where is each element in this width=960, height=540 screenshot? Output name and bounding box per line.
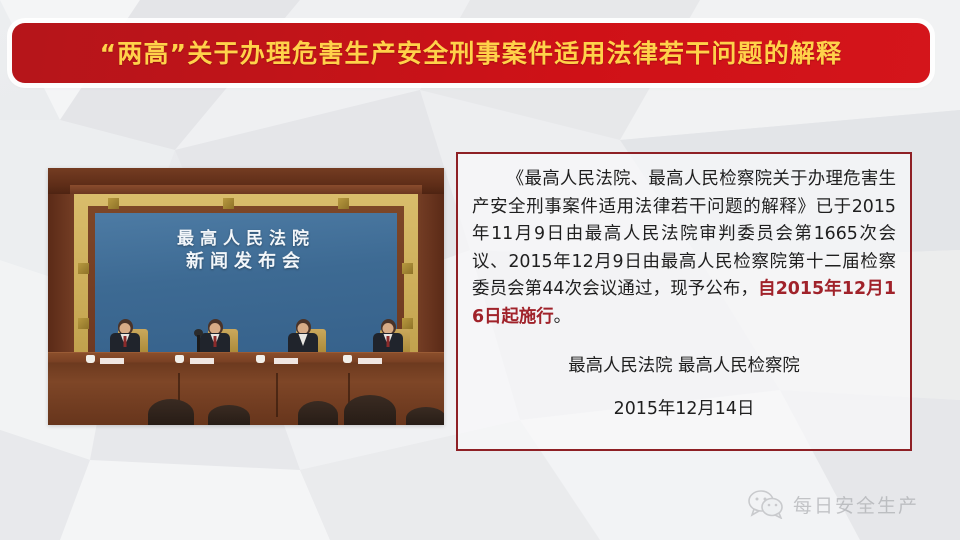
photo-official [288,319,318,355]
press-conference-photo: 最高人民法院 新闻发布会 [48,168,444,425]
photo-teacup [175,355,184,363]
photo-teacup [256,355,265,363]
wechat-account-name: 每日安全生产 [793,491,919,518]
photo-official-tie [214,336,217,347]
photo-audience [148,399,194,425]
page-title: “两高”关于办理危害生产安全刑事案件适用法律若干问题的解释 [100,41,843,66]
photo-official-tie [387,336,390,347]
photo-audience [208,405,250,425]
photo-banner-line-1: 最高人民法院 [95,228,397,250]
photo-official [110,319,140,355]
title-banner: “两高”关于办理危害生产安全刑事案件适用法律若干问题的解释 [12,23,930,83]
photo-document [100,358,124,364]
photo-banner-text: 最高人民法院 新闻发布会 [95,228,397,274]
photo-desk-seam [276,373,278,417]
photo-official-tie [124,336,127,347]
announcement-signature: 最高人民法院 最高人民检察院 [472,353,896,381]
wechat-icon [748,489,784,519]
frame-ornament [402,263,413,274]
photo-teacup [343,355,352,363]
photo-audience [344,395,396,425]
frame-ornament [78,263,89,274]
announcement-text-box: 《最高人民法院、最高人民检察院关于办理危害生产安全刑事案件适用法律若干问题的解释… [456,152,912,451]
photo-audience [298,401,338,425]
photo-ceiling-trim-2 [70,185,422,194]
slide-canvas: “两高”关于办理危害生产安全刑事案件适用法律若干问题的解释 最高人民法院 新闻发… [0,0,960,540]
frame-ornament [223,198,234,209]
frame-ornament [338,198,349,209]
photo-audience [406,407,444,425]
paragraph-text-part-2: 。 [554,307,571,327]
photo-banner-line-2: 新闻发布会 [95,250,397,274]
photo-official [200,319,230,355]
photo-document [190,358,214,364]
announcement-date: 2015年12月14日 [472,395,896,420]
announcement-paragraph: 《最高人民法院、最高人民检察院关于办理危害生产安全刑事案件适用法律若干问题的解释… [472,166,896,331]
photo-teacup [86,355,95,363]
photo-document [274,358,298,364]
frame-ornament [78,318,89,329]
photo-official [373,319,403,355]
frame-ornament [108,198,119,209]
wechat-footer: 每日安全生产 [748,489,919,519]
photo-official-shirt [299,334,308,346]
photo-document [358,358,382,364]
frame-ornament [402,318,413,329]
